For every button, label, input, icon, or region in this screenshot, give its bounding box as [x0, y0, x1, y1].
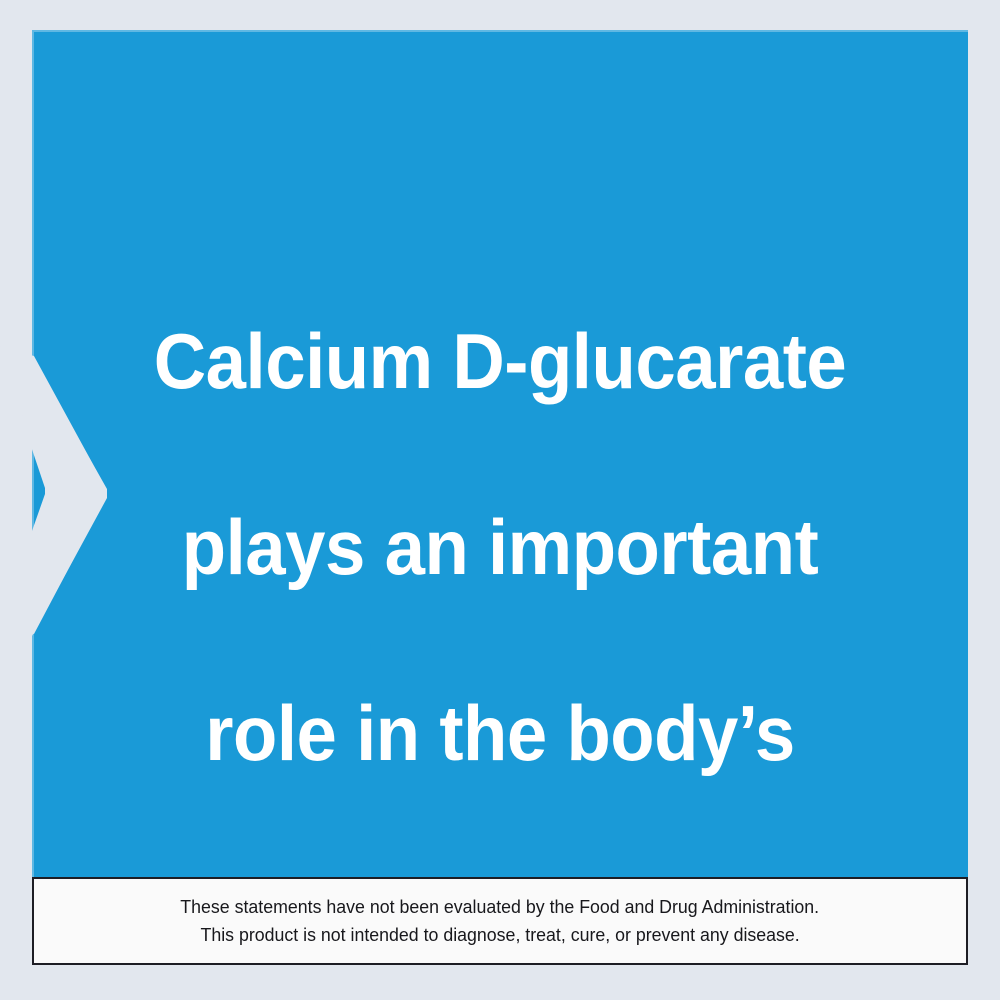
- fda-disclaimer-box: These statements have not been evaluated…: [32, 877, 968, 965]
- headline-block: Calcium D-glucarate plays an important r…: [65, 222, 935, 877]
- poster-canvas: Calcium D-glucarate plays an important r…: [0, 0, 1000, 1000]
- headline-line-2: plays an important: [65, 501, 935, 594]
- headline-line-3: role in the body’s: [65, 687, 935, 780]
- headline-line-1: Calcium D-glucarate: [65, 315, 935, 408]
- blue-content-panel: Calcium D-glucarate plays an important r…: [32, 30, 968, 877]
- disclaimer-line-2: This product is not intended to diagnose…: [200, 921, 799, 949]
- disclaimer-line-1: These statements have not been evaluated…: [181, 893, 820, 921]
